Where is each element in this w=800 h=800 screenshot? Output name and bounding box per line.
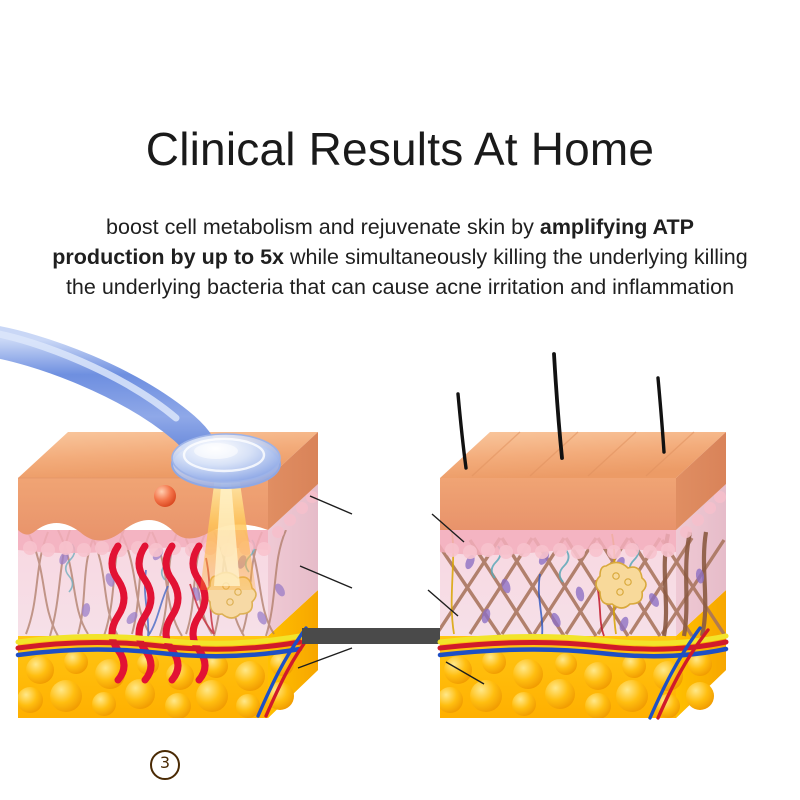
epidermis-layer-right [440,432,726,530]
page-title: Clinical Results At Home [0,123,800,176]
inflamed-spot [154,485,176,507]
body-copy: boost cell metabolism and rejuvenate ski… [48,212,752,302]
infographic-page: Clinical Results At Home boost cell meta… [0,0,800,800]
result-skin-block [437,354,726,719]
skin-illustration: Epidermis Dermis 3 2 1 [0,318,800,758]
body-copy-part-1: boost cell metabolism and rejuvenate ski… [106,215,540,239]
illustration-svg [0,318,800,758]
treated-skin-block [0,332,318,719]
callout-marker-3: 3 [150,750,180,780]
sebaceous-gland-right [596,562,646,608]
